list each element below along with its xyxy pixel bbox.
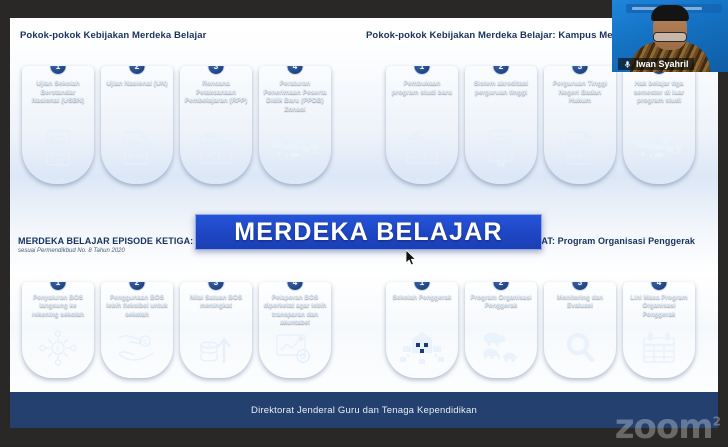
- card-row-episode-keempat: 1 Sekolah Penggerak 2: [386, 282, 695, 378]
- card-label: Ujian Nasional (UN): [105, 80, 169, 89]
- card-label: Lini Masa Program Organisasi Penggerak: [627, 294, 691, 319]
- card-label: Penggunaan BOS lebih fleksibel untuk sek…: [105, 294, 169, 319]
- policy-card[interactable]: 1 Ujian Sekolah Berstandar Nasional (USB…: [22, 66, 94, 184]
- presentation-slide: Pokok-pokok Kebijakan Merdeka Belajar Po…: [10, 18, 718, 428]
- card-number-badge: 2: [493, 66, 510, 75]
- section-subtitle-episode-ketiga: sesuai Permendikbud No. 8 Tahun 2020: [18, 248, 125, 254]
- indonesia-map-icon: [259, 126, 331, 170]
- indonesia-map-icon: [623, 126, 695, 170]
- participant-video-tile[interactable]: Iwan Syahril: [612, 0, 728, 72]
- card-number-badge: 2: [129, 282, 146, 291]
- animals-group-icon: [465, 328, 537, 368]
- policy-card[interactable]: 3 Perguruan Tinggi Negeri Badan Hukum: [544, 66, 616, 184]
- card-number-badge: 3: [208, 282, 225, 291]
- participant-name-tag: Iwan Syahril: [618, 58, 694, 70]
- policy-card[interactable]: 1 Penyaluran BOS langsung ke rekening se…: [22, 282, 94, 378]
- zoom-meeting-window: Pokok-pokok Kebijakan Merdeka Belajar Po…: [0, 0, 728, 446]
- policy-card[interactable]: 3 Monitoring dan Evaluasi: [544, 282, 616, 378]
- person-glasses: [653, 32, 687, 42]
- money-distribution-icon: $: [22, 328, 94, 368]
- card-label: Sekolah Penggerak: [390, 294, 454, 302]
- section-title-kampus-merdeka: Pokok-pokok Kebijakan Merdeka Belajar: K…: [366, 30, 628, 41]
- card-number-badge: 1: [50, 282, 67, 291]
- card-label: Peraturan Penerimaan Peserta Didik Baru …: [263, 80, 327, 115]
- slide-footer: Direktorat Jenderal Guru dan Tenaga Kepe…: [10, 392, 718, 428]
- participant-name: Iwan Syahril: [636, 59, 689, 69]
- card-label: Perguruan Tinggi Negeri Badan Hukum: [548, 80, 612, 106]
- card-label: Sistem akreditasi perguruan tinggi: [469, 80, 533, 97]
- card-number-badge: 2: [493, 282, 510, 291]
- policy-card[interactable]: 3 Nilai Satuan BOS meningkat $: [180, 282, 252, 378]
- policy-card[interactable]: 1 Sekolah Penggerak: [386, 282, 458, 378]
- person-cap: [651, 5, 689, 21]
- card-label: Hak belajar tiga semester di luar progra…: [627, 80, 691, 106]
- policy-card[interactable]: 2 Sistem akreditasi perguruan tinggi: [465, 66, 537, 184]
- card-label: Program Organisasi Penggerak: [469, 294, 533, 311]
- checklist-pencil-icon: [544, 126, 616, 170]
- school-building-network-icon: [386, 328, 458, 368]
- card-number-badge: 3: [572, 66, 589, 75]
- merdeka-belajar-banner: MERDEKA BELAJAR: [195, 214, 542, 250]
- policy-card[interactable]: 2 Program Organisasi Penggerak: [465, 282, 537, 378]
- policy-card[interactable]: 4 Pelaporan BOS diperketat agar lebih tr…: [259, 282, 331, 378]
- certificate-checklist-icon: [465, 126, 537, 170]
- banner-text: MERDEKA BELAJAR: [234, 218, 502, 247]
- card-row-kampus-merdeka: 1 Pembukaan program studi baru: [386, 66, 695, 184]
- clipboard-documents-icon: [386, 126, 458, 170]
- checklist-pencil-icon: [101, 126, 173, 170]
- card-row-episode-ketiga: 1 Penyaluran BOS langsung ke rekening se…: [22, 282, 331, 378]
- card-label: Monitoring dan Evaluasi: [548, 294, 612, 311]
- card-number-badge: 4: [287, 66, 304, 75]
- footer-text: Direktorat Jenderal Guru dan Tenaga Kepe…: [251, 405, 477, 416]
- svg-text:A+: A+: [54, 158, 63, 165]
- policy-card[interactable]: 3 Rencana Pelaksanaan Pembelajaran (RPP): [180, 66, 252, 184]
- report-chart-gear-icon: [259, 328, 331, 368]
- section-title-episode-satu: Pokok-pokok Kebijakan Merdeka Belajar: [20, 30, 206, 41]
- card-label: Nilai Satuan BOS meningkat: [184, 294, 248, 311]
- card-row-episode-satu: 1 Ujian Sekolah Berstandar Nasional (USB…: [22, 66, 331, 184]
- svg-text:$: $: [56, 346, 60, 353]
- card-label: Penyaluran BOS langsung ke rekening seko…: [26, 294, 90, 319]
- magnifier-icon: [544, 328, 616, 368]
- policy-card[interactable]: 4 Lini Masa Program Organisasi Penggerak: [623, 282, 695, 378]
- mouse-cursor: [406, 250, 417, 271]
- card-number-badge: 4: [287, 282, 304, 291]
- calendar-icon: [623, 328, 695, 368]
- card-label: Rencana Pelaksanaan Pembelajaran (RPP): [184, 80, 248, 106]
- clipboard-documents-icon: [180, 126, 252, 170]
- card-label: Pelaporan BOS diperketat agar lebih tran…: [263, 294, 327, 328]
- card-number-badge: 2: [129, 66, 146, 75]
- policy-card[interactable]: 2 Penggunaan BOS lebih fleksibel untuk s…: [101, 282, 173, 378]
- zoom-watermark: zoom2: [615, 410, 720, 444]
- hand-money-icon: $: [101, 328, 173, 368]
- microphone-muted-icon: [623, 60, 632, 69]
- card-number-badge: 4: [651, 282, 668, 291]
- card-number-badge: 3: [208, 66, 225, 75]
- card-number-badge: 3: [572, 282, 589, 291]
- policy-card[interactable]: 2 Ujian Nasional (UN): [101, 66, 173, 184]
- coins-growth-arrow-icon: $: [180, 328, 252, 368]
- policy-card[interactable]: 4 Peraturan Penerimaan Peserta Didik Bar…: [259, 66, 331, 184]
- card-number-badge: 1: [50, 66, 67, 75]
- card-number-badge: 1: [414, 282, 431, 291]
- card-number-badge: 1: [414, 66, 431, 75]
- exam-paper-grade-icon: A+: [22, 126, 94, 170]
- policy-card[interactable]: 1 Pembukaan program studi baru: [386, 66, 458, 184]
- policy-card[interactable]: 4 Hak belajar tiga semester di luar prog…: [623, 66, 695, 184]
- card-label: Ujian Sekolah Berstandar Nasional (USBN): [26, 80, 90, 106]
- card-label: Pembukaan program studi baru: [390, 80, 454, 97]
